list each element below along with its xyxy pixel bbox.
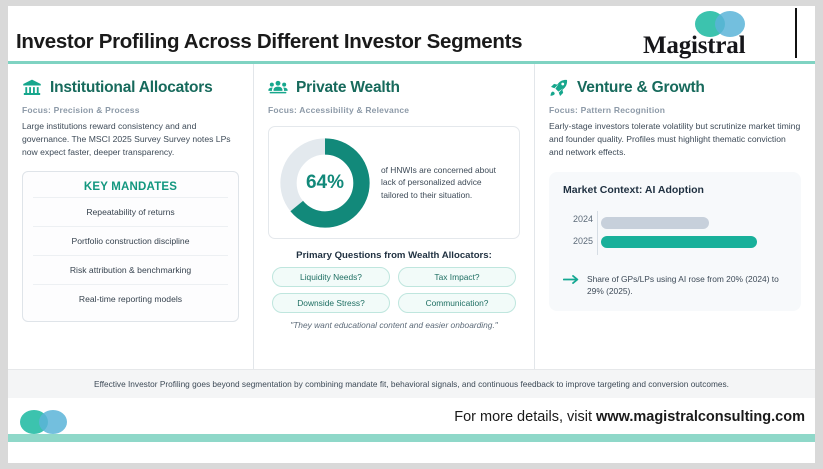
people-group-icon	[268, 78, 288, 98]
wealth-quote: "They want educational content and easie…	[268, 320, 520, 330]
column-private-wealth: Private Wealth Focus: Accessibility & Re…	[253, 64, 535, 369]
donut-chart: 64%	[277, 135, 373, 231]
key-mandates-title: KEY MANDATES	[33, 181, 228, 193]
bank-institution-icon	[22, 78, 42, 98]
rocket-icon	[549, 78, 569, 98]
primary-questions-title: Primary Questions from Wealth Allocators…	[268, 250, 520, 261]
question-chip-downside[interactable]: Downside Stress?	[272, 293, 390, 313]
hnwi-donut-card: 64% of HNWIs are concerned about lack of…	[268, 126, 520, 239]
page-footer: For more details, visit www.magistralcon…	[8, 398, 815, 442]
summary-band: Effective Investor Profiling goes beyond…	[8, 369, 815, 398]
bar-label-2024: 2024	[563, 214, 593, 224]
page-header: Investor Profiling Across Different Inve…	[8, 6, 815, 64]
footer-logo-circle-blue	[39, 410, 67, 434]
market-context-note-text: Share of GPs/LPs using AI rose from 20% …	[587, 273, 787, 297]
market-context-note: Share of GPs/LPs using AI rose from 20% …	[563, 273, 787, 297]
mandate-item: Repeatability of returns	[33, 197, 228, 226]
market-context-title: Market Context: AI Adoption	[563, 184, 787, 196]
segment-columns: Institutional Allocators Focus: Precisio…	[8, 64, 815, 369]
bar-fill-2024	[601, 217, 709, 229]
question-chip-communication[interactable]: Communication?	[398, 293, 516, 313]
footer-cta-prefix: For more details, visit	[454, 409, 596, 425]
brand-logo: Magistral	[643, 10, 773, 62]
bar-track	[601, 217, 773, 229]
mandate-item: Risk attribution & benchmarking	[33, 255, 228, 284]
market-context-card: Market Context: AI Adoption 2024 2025	[549, 172, 801, 311]
question-chip-tax[interactable]: Tax Impact?	[398, 267, 516, 287]
question-chip-liquidity[interactable]: Liquidity Needs?	[272, 267, 390, 287]
column-header: Institutional Allocators	[22, 78, 239, 98]
column-title: Venture & Growth	[577, 79, 705, 97]
column-header: Private Wealth	[268, 78, 520, 98]
ai-adoption-bar-chart: 2024 2025	[563, 214, 787, 252]
donut-caption: of HNWIs are concerned about lack of per…	[379, 164, 511, 201]
footer-cta-url[interactable]: www.magistralconsulting.com	[596, 409, 805, 425]
question-chips: Liquidity Needs? Tax Impact? Downside St…	[268, 267, 520, 313]
footer-cta: For more details, visit www.magistralcon…	[454, 409, 805, 425]
page-title: Investor Profiling Across Different Inve…	[16, 30, 522, 54]
column-institutional-allocators: Institutional Allocators Focus: Precisio…	[8, 64, 253, 369]
column-body-text: Large institutions reward consistency an…	[22, 120, 239, 159]
column-focus: Focus: Precision & Process	[22, 105, 239, 115]
column-title: Institutional Allocators	[50, 79, 213, 97]
column-venture-growth: Venture & Growth Focus: Pattern Recognit…	[535, 64, 815, 369]
column-focus: Focus: Accessibility & Relevance	[268, 105, 520, 115]
footer-magistral-circles-logo-icon	[20, 410, 68, 434]
column-header: Venture & Growth	[549, 78, 801, 98]
logo-wordmark: Magistral	[643, 32, 745, 60]
arrow-right-icon	[563, 274, 579, 285]
logo-divider-bar	[795, 8, 797, 58]
donut-value-label: 64%	[277, 135, 373, 231]
column-body-text: Early-stage investors tolerate volatilit…	[549, 120, 801, 159]
bar-row-2025: 2025	[597, 233, 787, 252]
mandate-item: Portfolio construction discipline	[33, 226, 228, 255]
mandate-item: Real-time reporting models	[33, 284, 228, 313]
infographic-page: Investor Profiling Across Different Inve…	[8, 6, 815, 463]
key-mandates-panel: KEY MANDATES Repeatability of returns Po…	[22, 171, 239, 322]
bar-track	[601, 236, 773, 248]
column-focus: Focus: Pattern Recognition	[549, 105, 801, 115]
column-title: Private Wealth	[296, 79, 400, 97]
bar-fill-2025	[601, 236, 757, 248]
bar-label-2025: 2025	[563, 236, 593, 246]
bar-row-2024: 2024	[597, 214, 787, 233]
